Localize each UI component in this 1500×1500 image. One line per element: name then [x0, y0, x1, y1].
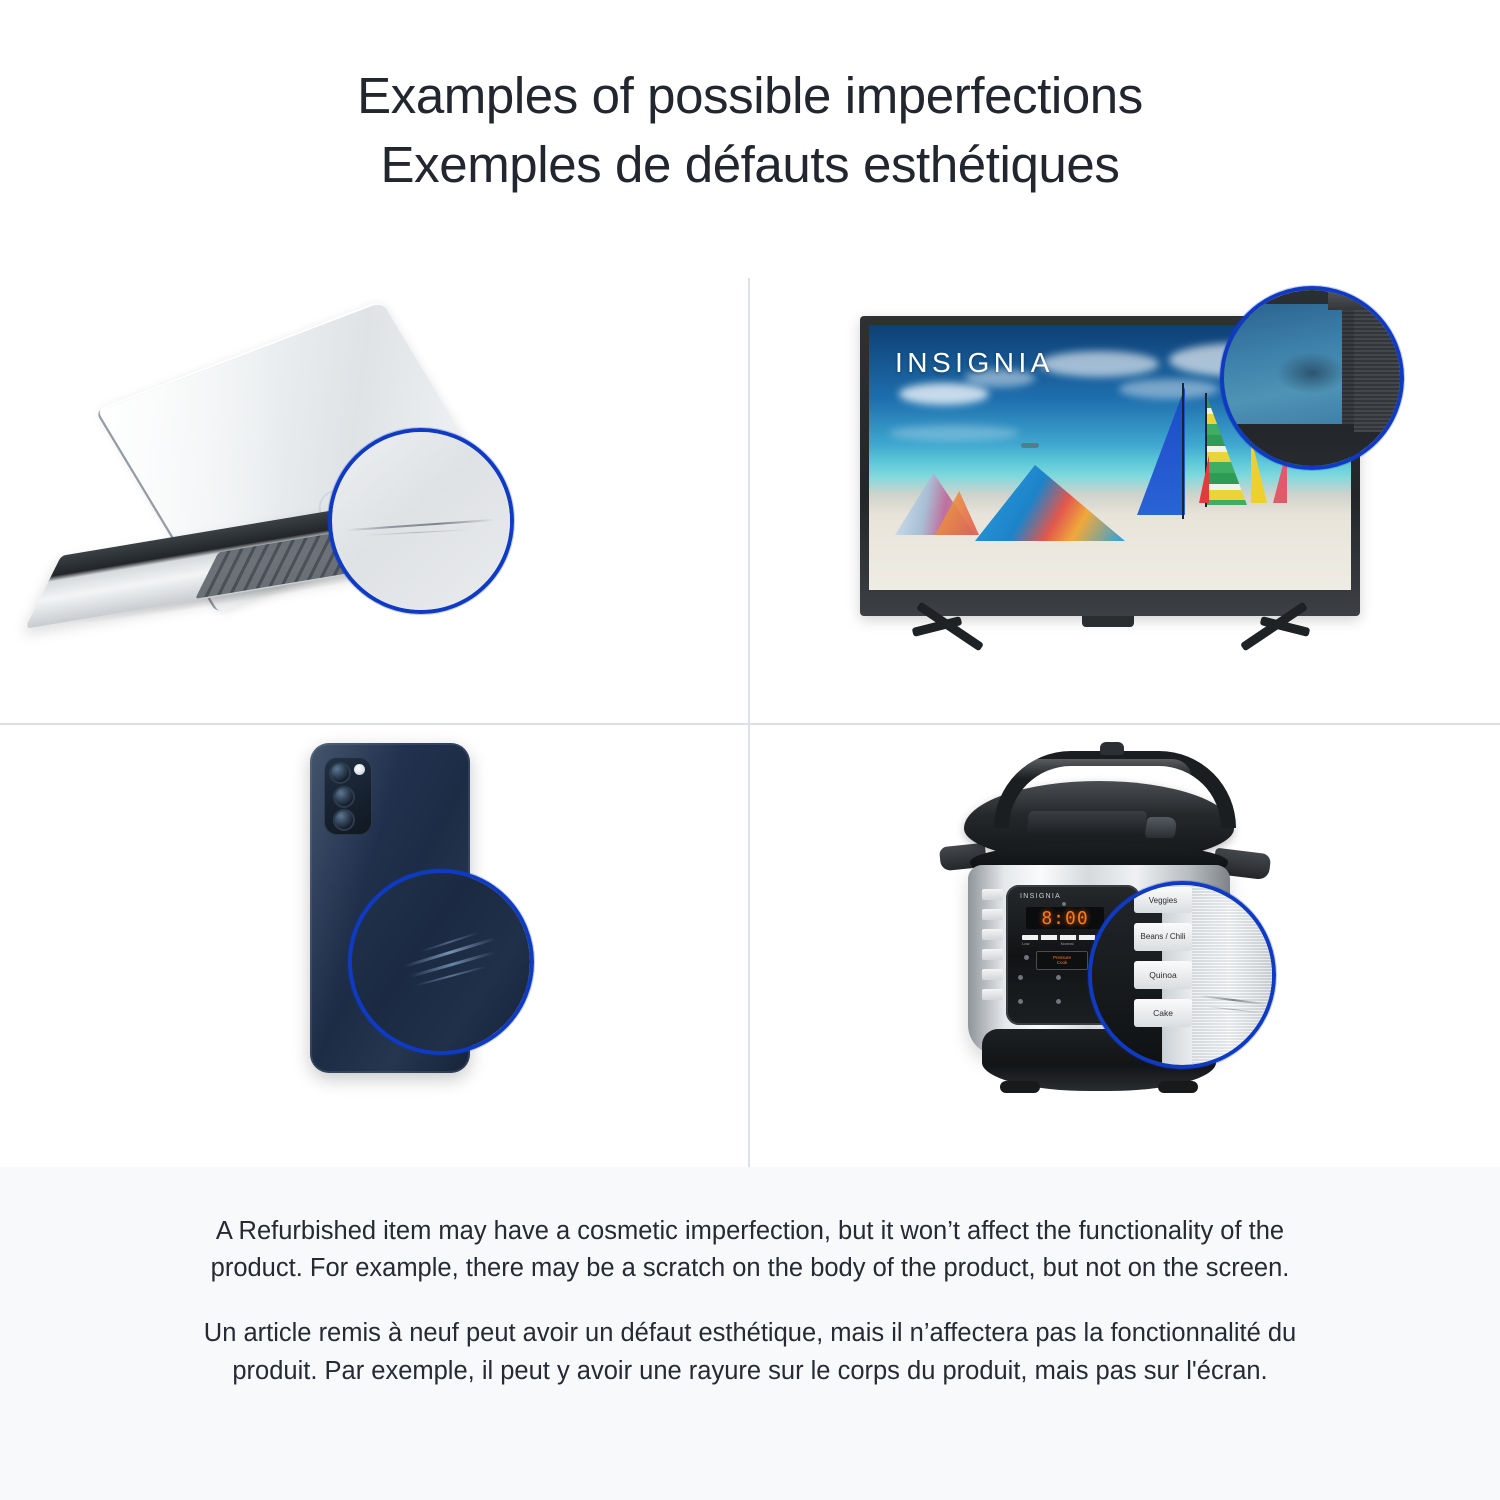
- tv-stand: [860, 616, 1360, 666]
- description-english: A Refurbished item may have a cosmetic i…: [170, 1213, 1330, 1287]
- cooker-minus-button[interactable]: [1024, 955, 1029, 960]
- magnified-cooker-buttons: Veggies Beans / Chili Quinoa Cake: [1134, 887, 1192, 1027]
- grid-cell-pressure-cooker[interactable]: INSIGNIA 8:00 LowNormalMore PressureCook: [750, 725, 1500, 1167]
- description-french: Un article remis à neuf peut avoir un dé…: [170, 1315, 1330, 1389]
- phone-lens-3-icon: [333, 809, 355, 831]
- cooker-left-btn-3[interactable]: [982, 929, 1003, 940]
- page-title: Examples of possible imperfections Exemp…: [0, 0, 1500, 200]
- television-illustration: INSIGNIA: [860, 316, 1390, 686]
- phone-lens-2-icon: [333, 786, 355, 808]
- pressure-cooker-illustration: INSIGNIA 8:00 LowNormalMore PressureCook: [930, 733, 1290, 1153]
- tv-brand-text: INSIGNIA: [895, 347, 1054, 379]
- cooker-left-btn-4[interactable]: [982, 949, 1003, 960]
- page-title-english: Examples of possible imperfections: [0, 62, 1500, 131]
- cooker-steam-button[interactable]: [1056, 999, 1061, 1004]
- cooker-left-btn-1[interactable]: [982, 889, 1003, 900]
- cooker-slow-cook-button[interactable]: [1056, 975, 1061, 980]
- cooker-pressure-cook-button[interactable]: PressureCook: [1036, 951, 1088, 970]
- cooker-foot-right: [1158, 1081, 1198, 1093]
- phone-flash-icon: [354, 764, 365, 775]
- cooker-manual-button[interactable]: [1018, 975, 1023, 980]
- cooker-saute-button[interactable]: [1018, 999, 1023, 1004]
- magnifier-circle-television: [1220, 286, 1404, 470]
- cooker-steam-knob-icon: [1100, 742, 1124, 755]
- magnified-scratch-on-cooker-body: Veggies Beans / Chili Quinoa Cake: [1088, 881, 1276, 1069]
- examples-grid: INSIGNIA: [0, 278, 1500, 1167]
- laptop-illustration: [30, 338, 550, 668]
- grid-cell-smartphone[interactable]: [0, 725, 748, 1167]
- cooker-left-btn-6[interactable]: [982, 989, 1003, 1000]
- grid-cell-television[interactable]: INSIGNIA: [750, 278, 1500, 723]
- cooker-left-btn-2[interactable]: [982, 909, 1003, 920]
- cooker-left-btn-5[interactable]: [982, 969, 1003, 980]
- magnified-scuff-on-tv-bezel: [1220, 286, 1404, 470]
- cooker-brand-text: INSIGNIA: [1020, 893, 1061, 900]
- page-title-french: Exemples de défauts esthétiques: [0, 131, 1500, 200]
- phone-lens-1-icon: [329, 762, 351, 784]
- cooker-left-button-strip[interactable]: [982, 889, 1002, 1000]
- cooker-foot-left: [1000, 1081, 1040, 1093]
- grid-cell-laptop[interactable]: [0, 278, 748, 723]
- description-panel: A Refurbished item may have a cosmetic i…: [0, 1167, 1500, 1500]
- phone-camera-module: [324, 757, 372, 835]
- magnifier-circle-smartphone: [348, 869, 534, 1055]
- smartphone-illustration: [310, 743, 510, 1143]
- magnifier-circle-pressure-cooker: Veggies Beans / Chili Quinoa Cake: [1088, 881, 1276, 1069]
- tv-logo-bump: [1082, 616, 1134, 627]
- tv-beach-tent-center: [975, 465, 1125, 541]
- magnified-scratches-on-phone-back: [348, 869, 534, 1055]
- tv-sail-blue: [1137, 387, 1185, 515]
- magnified-scratch-on-laptop-lid: [328, 428, 514, 614]
- cooker-handle-gloss: [1008, 759, 1192, 779]
- refurbished-imperfections-infographic: Examples of possible imperfections Exemp…: [0, 0, 1500, 1500]
- cooker-status-led-icon: [1062, 902, 1066, 906]
- magnifier-circle-laptop: [328, 428, 514, 614]
